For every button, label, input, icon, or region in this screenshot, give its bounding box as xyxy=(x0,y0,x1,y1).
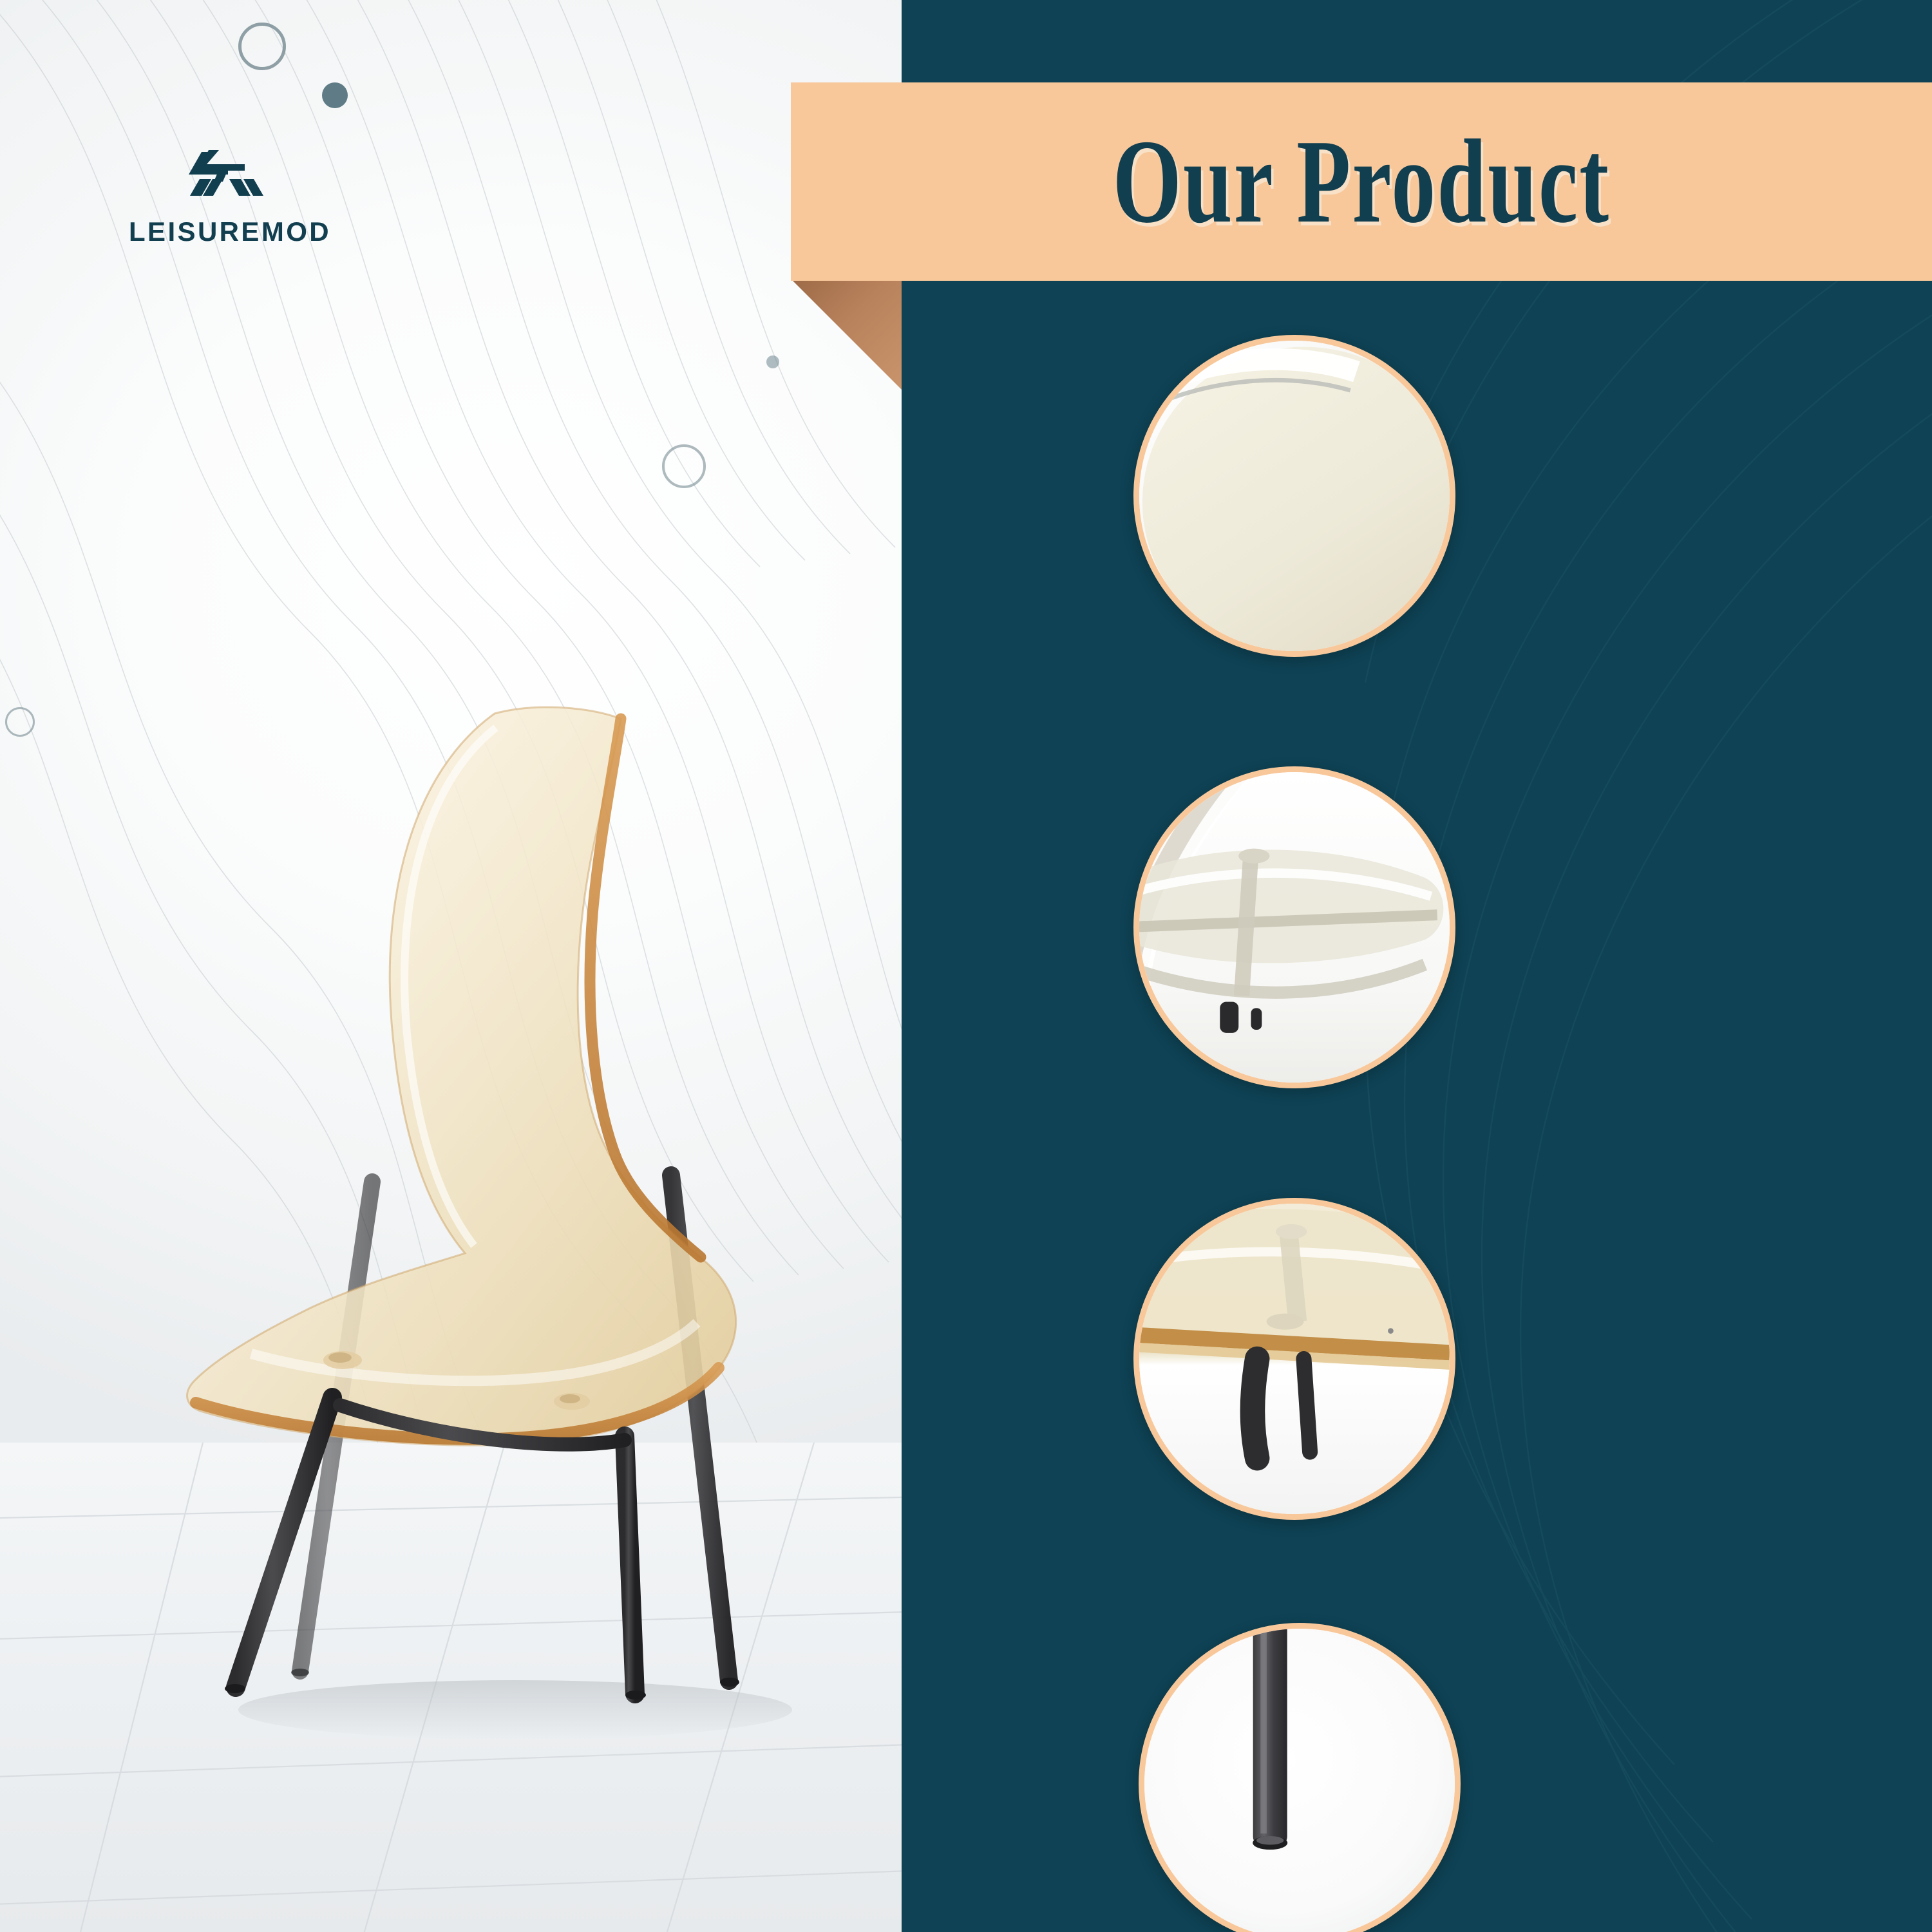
infographic-canvas: LEISUREMOD xyxy=(0,0,1932,1932)
thumb-art xyxy=(1139,341,1450,651)
thumb-art xyxy=(1139,1204,1450,1514)
feature-list: Formativedesign xyxy=(902,0,1932,1932)
feature-item-sleek-chrome-leg-base[interactable]: Sleek ChromeLeg Base xyxy=(902,1623,1932,1932)
brand-wordmark: LEISUREMOD xyxy=(129,216,322,247)
product-image-panel: LEISUREMOD xyxy=(0,0,902,1932)
thumb-art xyxy=(1144,1629,1455,1932)
feature-item-polycarbonate-seat[interactable]: PolycarbonateSeat xyxy=(902,1198,1932,1533)
decorative-dot-icon xyxy=(766,355,779,368)
feature-item-modern-rounded-backrest[interactable]: ModernRoundedBackrest xyxy=(902,766,1932,1101)
polycarbonate-seat-thumb-icon[interactable] xyxy=(1133,1198,1455,1520)
thumb-art xyxy=(1139,772,1450,1083)
lounge-chair-icon xyxy=(180,148,270,202)
decorative-ring-icon xyxy=(662,444,706,488)
decorative-dot-icon xyxy=(322,82,348,108)
product-chair-image xyxy=(174,702,876,1797)
brand-logo[interactable]: LEISUREMOD xyxy=(129,148,322,247)
feature-item-formative-design[interactable]: Formativedesign xyxy=(902,335,1932,670)
backrest-curve-thumb-icon[interactable] xyxy=(1133,766,1455,1088)
decorative-ring-icon xyxy=(238,23,286,70)
transparent-chair-shell xyxy=(174,702,876,1797)
rounded-seat-top-thumb-icon[interactable] xyxy=(1133,335,1455,657)
page-title: Our Product xyxy=(1113,122,1611,241)
chrome-leg-thumb-icon[interactable] xyxy=(1139,1623,1461,1932)
title-banner: Our Product xyxy=(791,82,1932,281)
decorative-ring-icon xyxy=(5,707,35,737)
